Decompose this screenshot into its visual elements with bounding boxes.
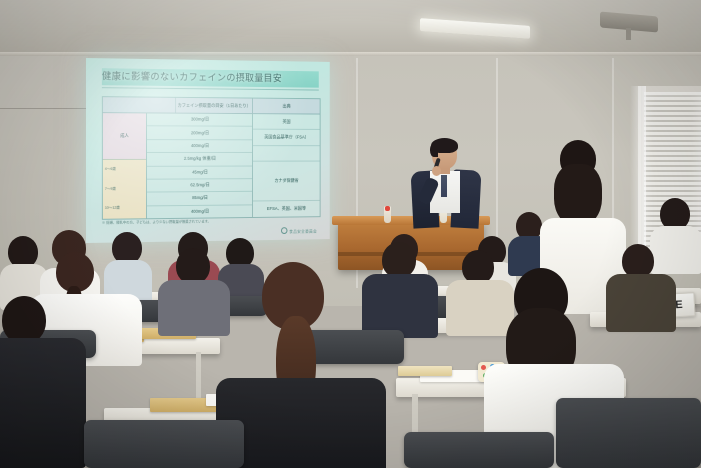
- desk-leg: [412, 394, 418, 434]
- table-source-column: 英国 英国食品基準庁（FSA） カナダ保健省 EFSA、英国、米国等: [253, 114, 320, 217]
- table-body: 成人 4～6歳 7～9歳 10～12歳 300mg/日 200mg/日 400m…: [103, 113, 320, 219]
- presenter: [408, 140, 484, 228]
- row-group-adult: 成人: [103, 113, 146, 159]
- table-header-row: カフェイン摂取量の目安（1日あたり） 出典: [103, 97, 320, 114]
- table-row: 85mg/日: [147, 192, 252, 206]
- table-left-column: 成人 4～6歳 7～9歳 10～12歳: [103, 113, 147, 219]
- table-row: 45mg/日: [147, 166, 252, 180]
- ceiling: [0, 0, 701, 60]
- slide-title-rule: [102, 87, 319, 90]
- table-row: 英国: [253, 114, 320, 130]
- chair: [556, 398, 701, 468]
- table-row: 300mg/日: [147, 113, 252, 127]
- table-row: [253, 146, 320, 162]
- slide-title: 健康に影響のないカフェインの摂取量目安: [102, 68, 319, 87]
- slide-logo-text: 食品安全委員会: [289, 229, 317, 234]
- table-header-amount: カフェイン摂取量の目安（1日あたり）: [175, 98, 252, 113]
- lecture-room-photo: 健康に影響のないカフェインの摂取量目安 カフェイン摂取量の目安（1日あたり） 出…: [0, 0, 701, 468]
- table-row: 200mg/日: [147, 127, 252, 140]
- chair: [404, 432, 554, 468]
- presenter-tie: [441, 175, 447, 197]
- table-row: 英国食品基準庁（FSA）: [253, 130, 320, 147]
- table-row: カナダ保健省: [253, 162, 320, 202]
- table-row: 62.5mg/日: [147, 179, 252, 193]
- table-row: 400mg/日: [147, 205, 252, 218]
- name-card-letter: E: [675, 299, 683, 311]
- child-age-row-3: 10～12歳: [105, 207, 146, 211]
- wall-trim-line: [0, 108, 88, 109]
- desk-leg: [196, 352, 201, 404]
- water-bottle-icon: [384, 206, 391, 223]
- child-age-row-2: 7～9歳: [105, 187, 146, 191]
- presenter-hair-side: [430, 144, 438, 157]
- table-header-source: 出典: [252, 99, 320, 114]
- slide-table: カフェイン摂取量の目安（1日あたり） 出典 成人 4～6歳 7～9歳 10～12…: [102, 96, 321, 220]
- window-light-glow: [630, 86, 646, 266]
- row-group-child: 4～6歳 7～9歳 10～12歳: [103, 159, 146, 219]
- table-row: 2.5mg/kg 体重/日: [147, 153, 252, 166]
- table-row: 400mg/日: [147, 140, 252, 153]
- folder: [398, 366, 452, 376]
- projector-mount-rod: [626, 28, 631, 40]
- projection-screen: 健康に影響のないカフェインの摂取量目安 カフェイン摂取量の目安（1日あたり） 出…: [86, 58, 330, 243]
- table-amount-column: 300mg/日 200mg/日 400mg/日 2.5mg/kg 体重/日 45…: [147, 113, 253, 218]
- logo-mark-icon: [281, 227, 287, 234]
- presenter-hand: [432, 166, 441, 176]
- chair: [84, 420, 244, 468]
- table-row: EFSA、英国、米国等: [253, 201, 320, 217]
- slide-logo: 食品安全委員会: [281, 227, 317, 235]
- child-age-row-1: 4～6歳: [105, 168, 146, 172]
